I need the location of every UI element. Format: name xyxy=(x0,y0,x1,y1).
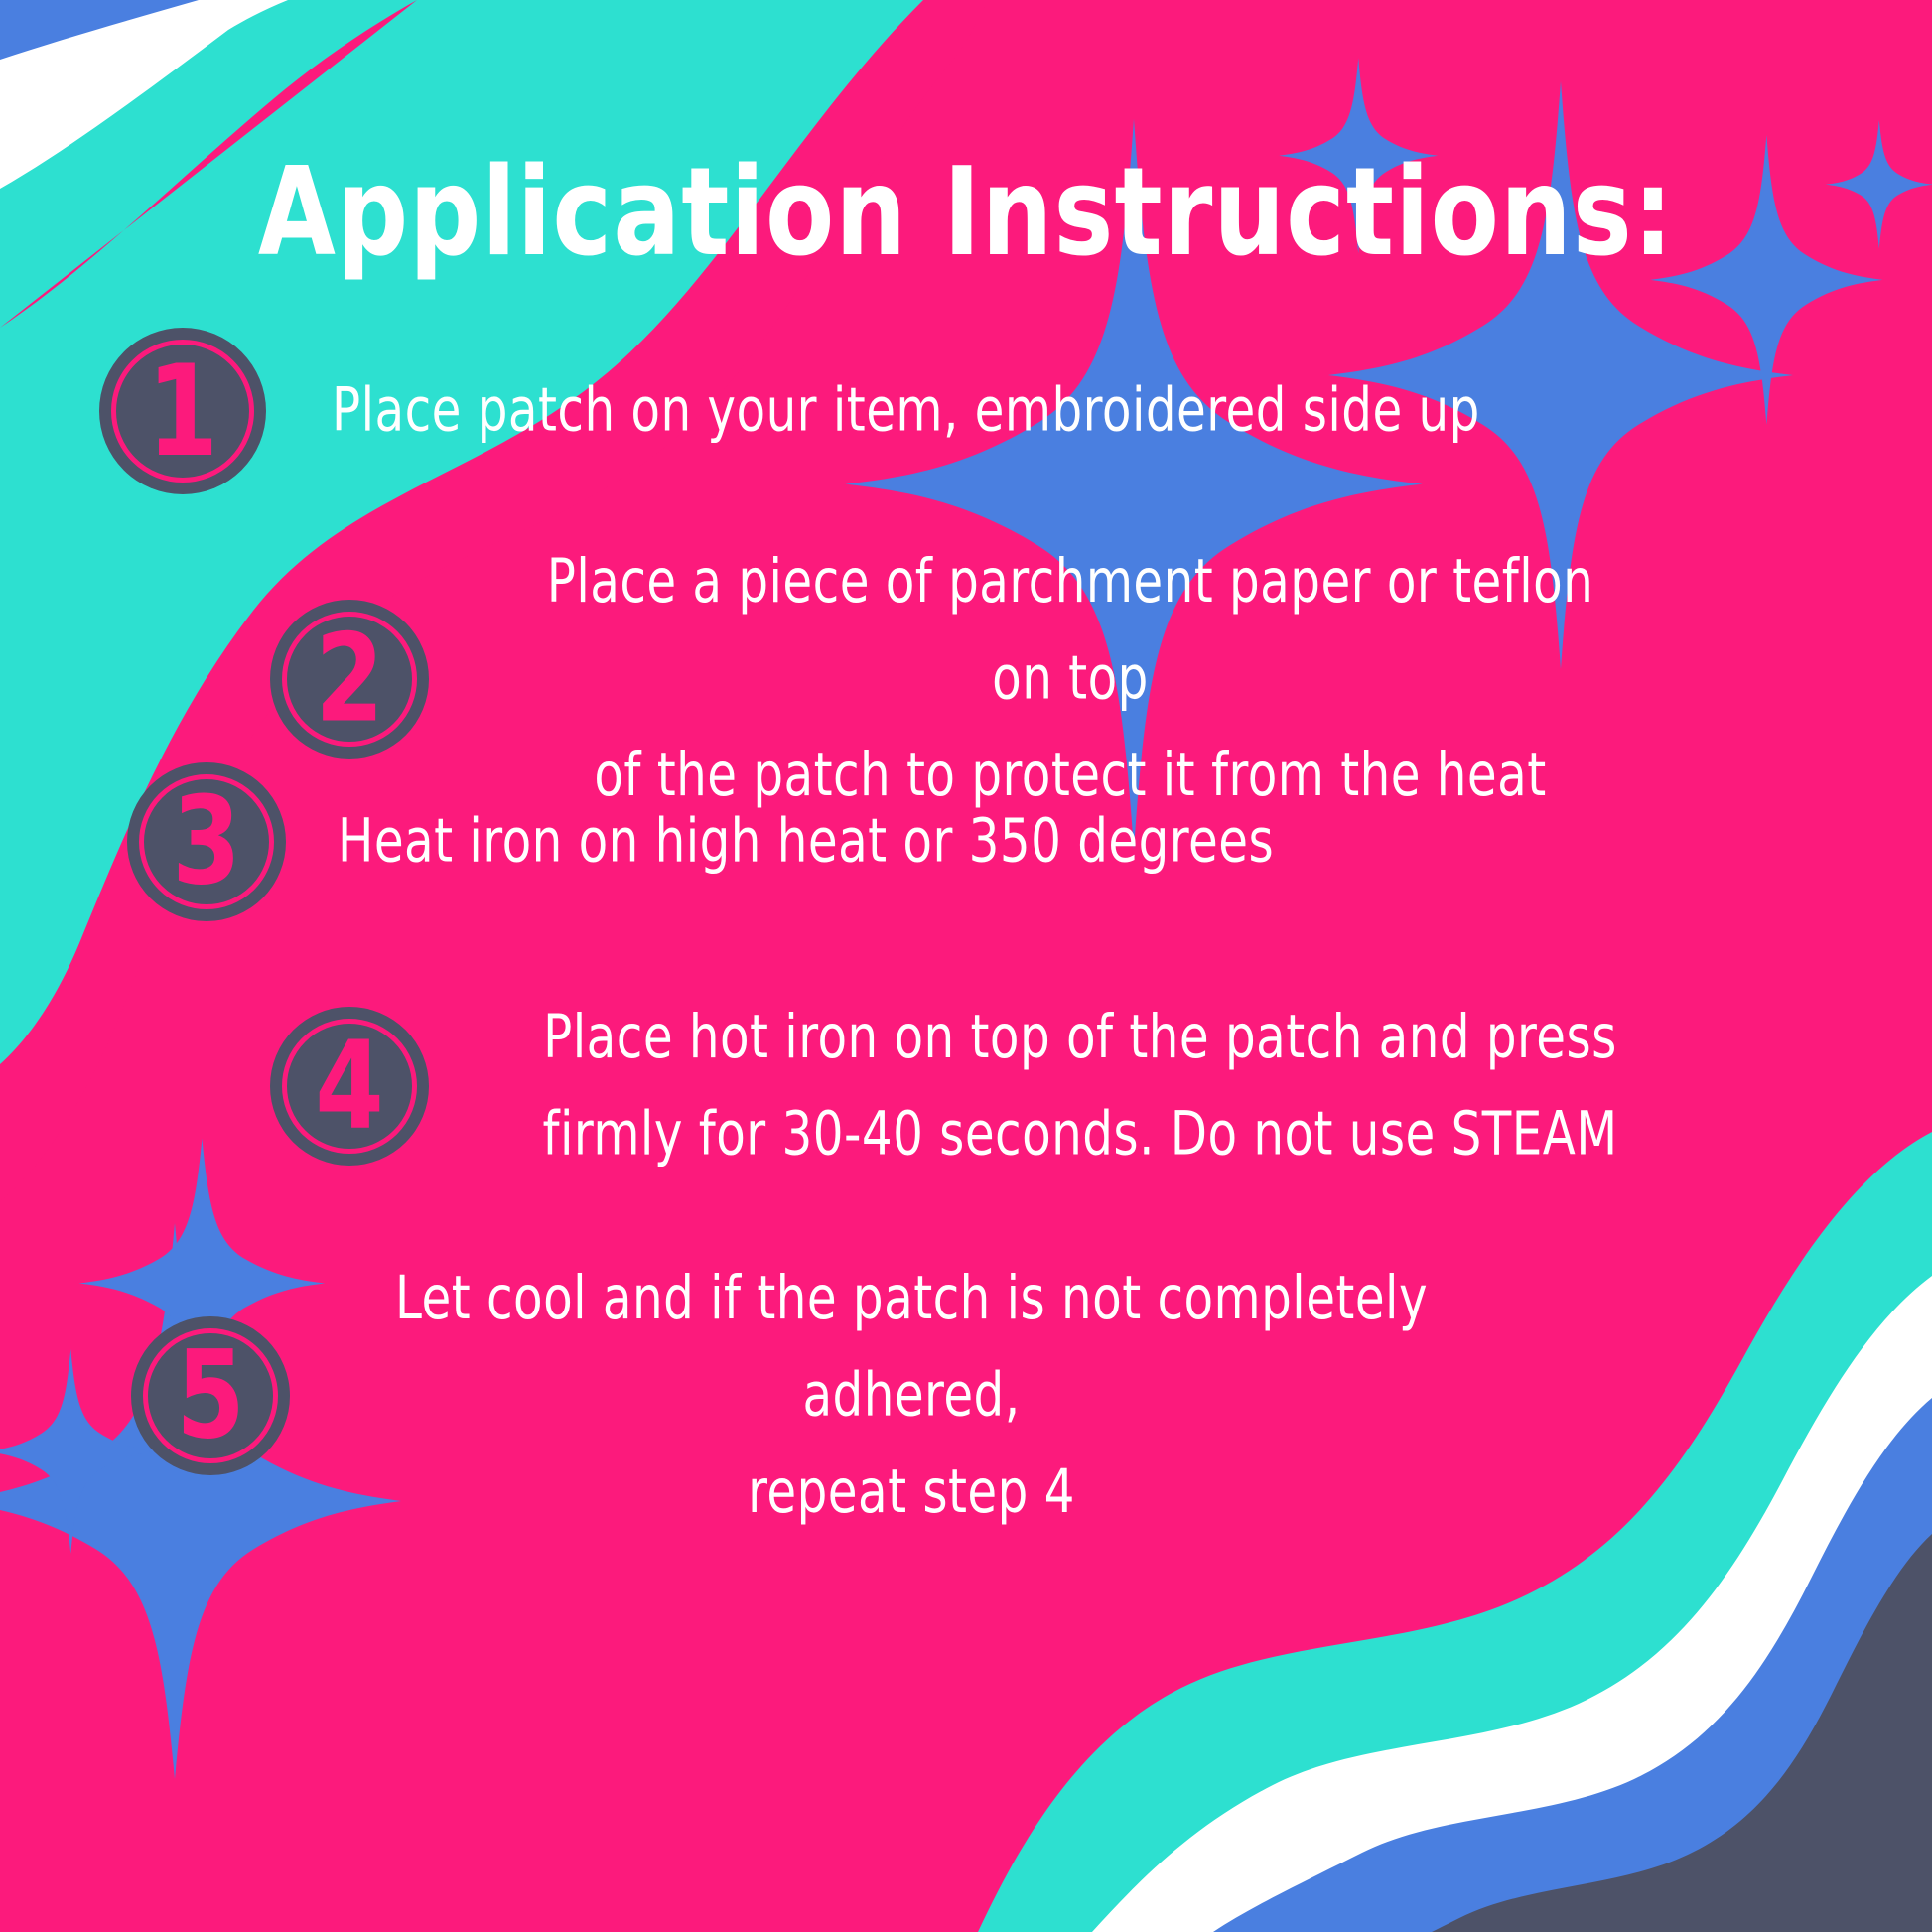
instructions-poster: Application Instructions: 1 Place patch … xyxy=(0,0,1932,1932)
wave-bottom-right xyxy=(0,0,1932,1932)
step-number-3: 3 xyxy=(172,781,241,902)
wave-pink-inner-top-left xyxy=(0,0,1932,1932)
step-text-5: Let cool and if the patch is not complet… xyxy=(376,1251,1448,1542)
step-badge-4: 4 xyxy=(270,1007,429,1166)
step-badge-2: 2 xyxy=(270,600,429,759)
step-item-1: 1 Place patch on your item, embroidered … xyxy=(99,328,1567,494)
wave-slate-top-left xyxy=(0,0,556,635)
wave-top-left xyxy=(0,0,1932,1932)
step-badge-3: 3 xyxy=(127,762,286,921)
step-number-4: 4 xyxy=(315,1026,384,1147)
sparkle-cluster-mid-left xyxy=(0,0,1932,1932)
wave-slate-bottom-right xyxy=(1432,1534,1932,1932)
step-badge-1: 1 xyxy=(99,328,266,494)
step-text-3: Heat iron on high heat or 350 degrees xyxy=(338,793,1274,891)
step-text-1: Place patch on your item, embroidered si… xyxy=(332,362,1480,460)
step-badge-5: 5 xyxy=(131,1316,290,1475)
step-item-5: 5 Let cool and if the patch is not compl… xyxy=(131,1271,1487,1522)
page-title: Application Instructions: xyxy=(29,149,1903,277)
step-number-5: 5 xyxy=(176,1335,245,1456)
step-text-4: Place hot iron on top of the patch and p… xyxy=(526,990,1634,1183)
sparkle-cluster-top-right xyxy=(0,0,1932,1932)
step-item-4: 4 Place hot iron on top of the patch and… xyxy=(270,1003,1676,1170)
step-number-1: 1 xyxy=(147,348,218,475)
step-number-2: 2 xyxy=(315,619,384,740)
step-item-3: 3 Heat iron on high heat or 350 degrees xyxy=(127,762,1344,921)
